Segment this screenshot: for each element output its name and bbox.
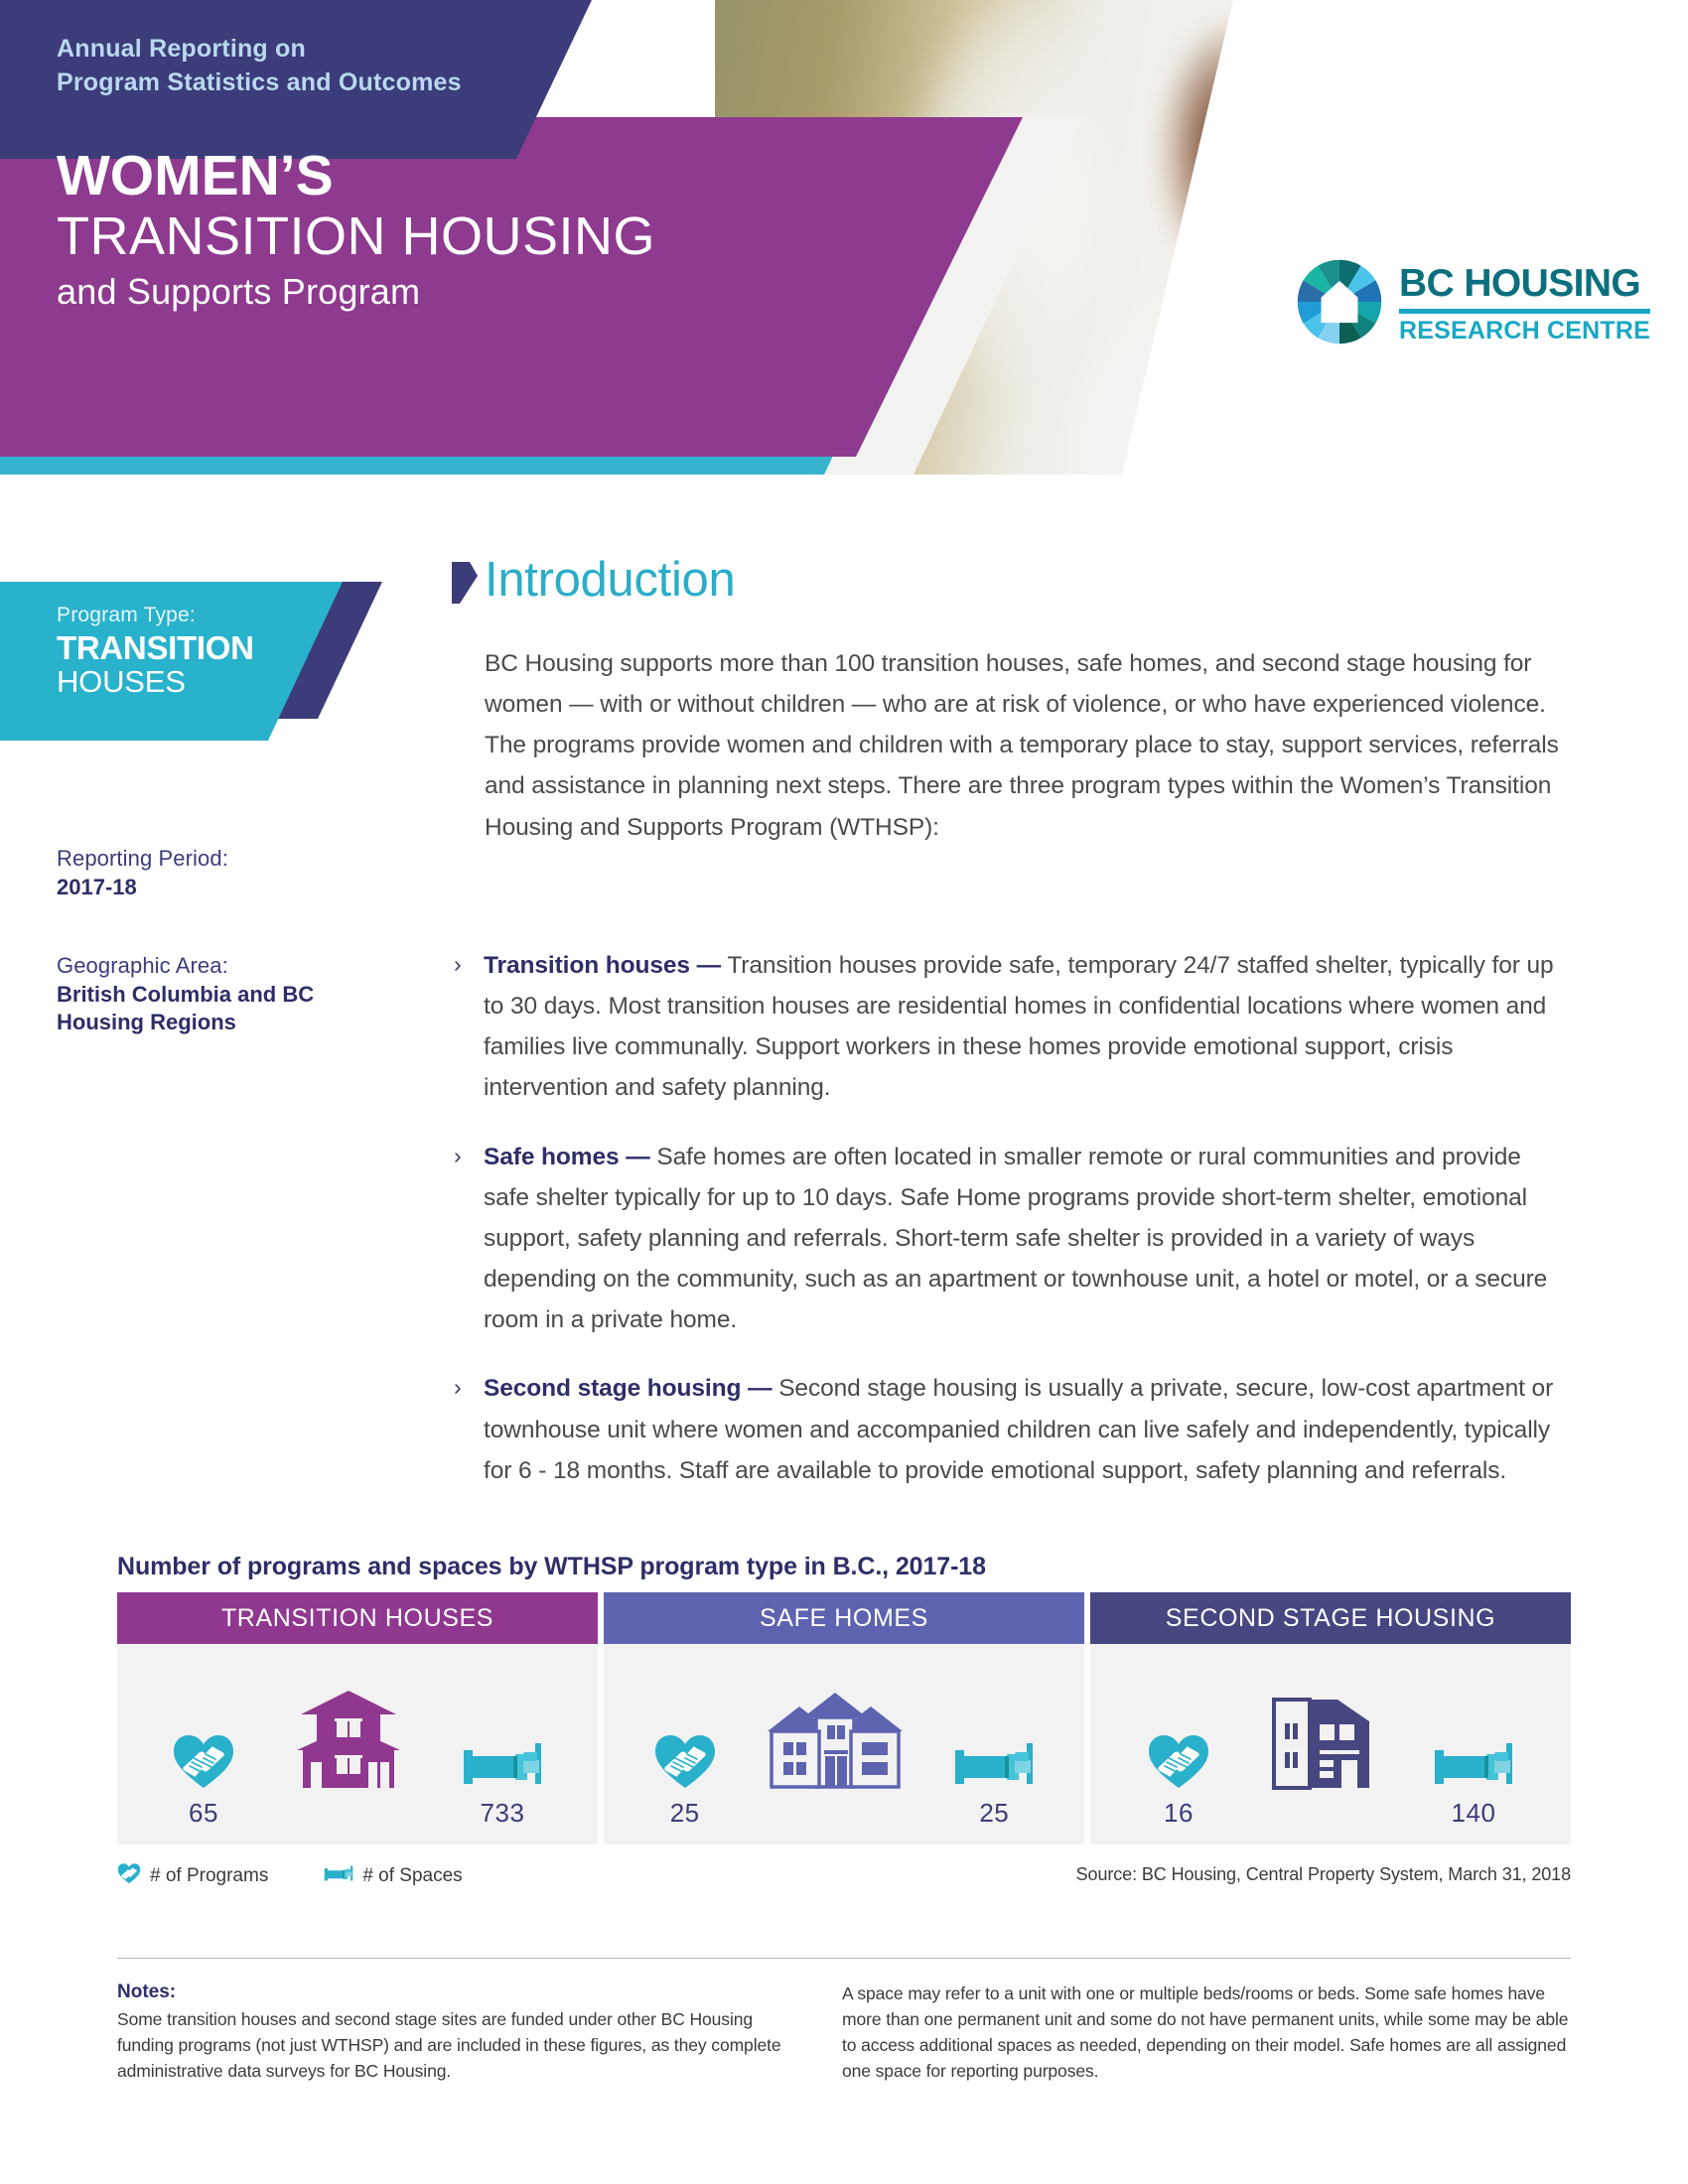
bc-housing-pinwheel-icon (1296, 258, 1383, 345)
figure-house-illustration (764, 1674, 907, 1829)
notes-right-text: A space may refer to a unit with one or … (842, 1981, 1571, 2085)
figure-metric-spaces: 140 (1433, 1674, 1514, 1829)
document-title: WOMEN’S TRANSITION HOUSING and Supports … (57, 147, 871, 312)
notes-left: Notes: Some transition houses and second… (117, 1981, 802, 2085)
list-item: › Second stage housing — Second stage ho… (452, 1368, 1569, 1490)
bed-icon (462, 1683, 543, 1790)
title-line-2: TRANSITION HOUSING (57, 207, 871, 266)
figure-header-row: TRANSITION HOUSES SAFE HOMES SECOND STAG… (117, 1592, 1571, 1644)
legend-item-spaces: # of Spaces (324, 1864, 462, 1888)
notes-title: Notes: (117, 1981, 802, 2003)
list-item-text: Safe homes are often located in smaller … (484, 1144, 1547, 1334)
figure-metric-programs: 25 (653, 1674, 717, 1829)
title-line-1: WOMEN’S (57, 147, 871, 205)
intro-paragraph: BC Housing supports more than 100 transi… (485, 643, 1569, 848)
figure-table: TRANSITION HOUSES SAFE HOMES SECOND STAG… (117, 1592, 1571, 1844)
program-type-value-line2: HOUSES (57, 666, 335, 699)
safe-home-icon (764, 1683, 907, 1790)
figure-programs-count: 25 (670, 1798, 700, 1829)
figure-body-row: 65 (117, 1644, 1571, 1844)
geographic-area-value: British Columbia and BC Housing Regions (57, 981, 354, 1035)
program-type-label: Program Type: (57, 604, 335, 627)
program-type-content: Program Type: TRANSITION HOUSES (57, 604, 335, 699)
figure-source: Source: BC Housing, Central Property Sys… (1076, 1864, 1571, 1885)
bed-icon (953, 1683, 1035, 1790)
geographic-area-block: Geographic Area: British Columbia and BC… (57, 953, 354, 1035)
bed-icon (324, 1864, 353, 1888)
program-type-list: › Transition houses — Transition houses … (452, 945, 1569, 1519)
figure-spaces-count: 25 (979, 1798, 1009, 1829)
chevron-right-icon: › (452, 1368, 484, 1490)
chevron-right-icon: › (452, 1137, 484, 1341)
list-item-body: Safe homes — Safe homes are often locate… (484, 1137, 1569, 1341)
legend-label-programs: # of Programs (150, 1865, 268, 1887)
heart-hands-icon (653, 1683, 717, 1790)
transition-house-icon (293, 1683, 404, 1790)
section-arrow-icon (452, 562, 478, 604)
logo-divider (1399, 309, 1650, 314)
list-item: › Transition houses — Transition houses … (452, 945, 1569, 1109)
banner-eyebrow-line1: Annual Reporting on (57, 32, 573, 66)
figure-title: Number of programs and spaces by WTHSP p… (117, 1553, 986, 1581)
figure-metric-programs: 65 (172, 1674, 235, 1829)
chevron-right-icon: › (452, 945, 484, 1109)
notes-right: A space may refer to a unit with one or … (842, 1981, 1571, 2085)
figure-programs-count: 65 (189, 1798, 218, 1829)
list-item-term: Transition houses — (484, 952, 721, 979)
header-banner: BC HOUSING RESEARCH CENTRE Annual Report… (0, 0, 1688, 475)
figure-panel-second-stage-housing: 16 (1090, 1644, 1571, 1844)
figure-header-cell: SECOND STAGE HOUSING (1090, 1592, 1571, 1644)
legend-label-spaces: # of Spaces (362, 1865, 462, 1887)
figure-panel-safe-homes: 25 (604, 1644, 1084, 1844)
figure-metric-spaces: 25 (953, 1674, 1035, 1829)
heart-hands-icon (1147, 1683, 1210, 1790)
list-item-body: Transition houses — Transition houses pr… (484, 945, 1569, 1109)
figure-header-cell: TRANSITION HOUSES (117, 1592, 598, 1644)
second-stage-building-icon (1272, 1683, 1371, 1790)
logo-name: BC HOUSING (1399, 264, 1650, 303)
figure-programs-count: 16 (1164, 1798, 1194, 1829)
program-type-value-line1: TRANSITION (57, 631, 335, 666)
reporting-period-block: Reporting Period: 2017-18 (57, 846, 354, 901)
list-item: › Safe homes — Safe homes are often loca… (452, 1137, 1569, 1341)
figure-legend: # of Programs # of Spaces Source: BC Hou… (117, 1862, 1571, 1889)
bed-icon (1433, 1683, 1514, 1790)
page-title: Introduction (485, 552, 735, 608)
figure-panel-transition-houses: 65 (117, 1644, 598, 1844)
title-line-3: and Supports Program (57, 271, 871, 312)
heart-hands-icon (117, 1862, 141, 1889)
intro-body: BC Housing supports more than 100 transi… (485, 643, 1569, 848)
figure-spaces-count: 733 (481, 1798, 525, 1829)
notes-left-text: Some transition houses and second stage … (117, 2007, 802, 2085)
figure-house-illustration (1272, 1674, 1371, 1829)
figure-header-cell: SAFE HOMES (604, 1592, 1084, 1644)
figure-house-illustration (293, 1674, 404, 1829)
list-item-term: Second stage housing — (484, 1375, 772, 1402)
reporting-period-value: 2017-18 (57, 874, 354, 901)
logo-subtitle: RESEARCH CENTRE (1399, 319, 1650, 343)
figure-metric-spaces: 733 (462, 1674, 543, 1829)
list-item-body: Second stage housing — Second stage hous… (484, 1368, 1569, 1490)
figure-spaces-count: 140 (1452, 1798, 1496, 1829)
reporting-period-label: Reporting Period: (57, 846, 354, 872)
heart-hands-icon (172, 1683, 235, 1790)
figure-metric-programs: 16 (1147, 1674, 1210, 1829)
banner-eyebrow-line2: Program Statistics and Outcomes (57, 66, 573, 99)
list-item-term: Safe homes — (484, 1144, 650, 1170)
legend-item-programs: # of Programs (117, 1862, 268, 1889)
bc-housing-logo: BC HOUSING RESEARCH CENTRE (1296, 258, 1650, 345)
notes-divider (117, 1958, 1571, 1959)
banner-eyebrow: Annual Reporting on Program Statistics a… (57, 32, 573, 99)
geographic-area-label: Geographic Area: (57, 953, 354, 979)
